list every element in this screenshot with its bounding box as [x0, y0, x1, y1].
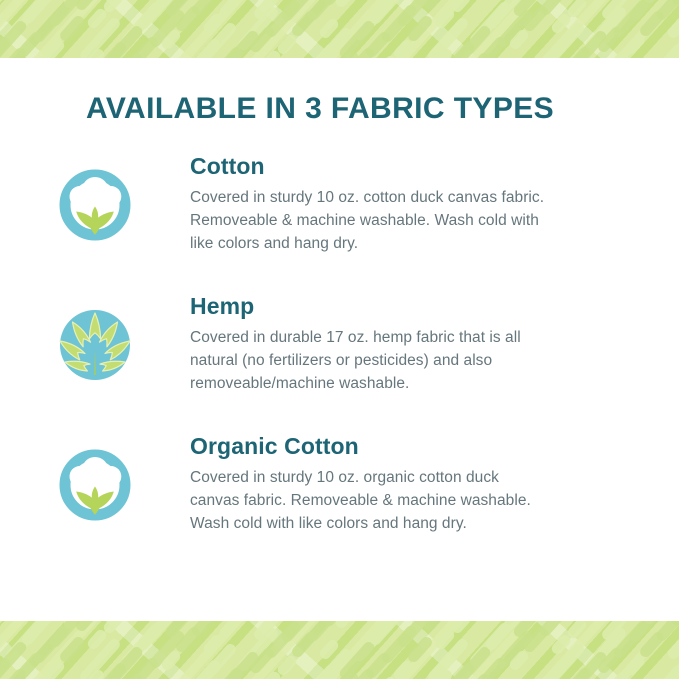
dash-stripe [0, 0, 8, 9]
list-item: Organic Cotton Covered in sturdy 10 oz. … [0, 434, 679, 574]
top-decorative-band [0, 0, 679, 58]
bottom-decorative-band [0, 621, 679, 679]
page-title: AVAILABLE IN 3 FABRIC TYPES [86, 92, 554, 126]
dash-stripe [276, 33, 299, 57]
cotton-boll-icon [49, 159, 141, 251]
dash-overlay [0, 0, 679, 58]
fabric-description: Covered in sturdy 10 oz. organic cotton … [190, 467, 550, 535]
list-item: Hemp Covered in durable 17 oz. hemp fabr… [0, 294, 679, 434]
text-column: Organic Cotton Covered in sturdy 10 oz. … [190, 434, 679, 536]
main-content: AVAILABLE IN 3 FABRIC TYPES Cotton Cove [0, 64, 679, 615]
fabric-types-list: Cotton Covered in sturdy 10 oz. cotton d… [0, 154, 679, 574]
dash-stripe [654, 0, 679, 22]
icon-column [0, 434, 190, 531]
dash-stripe [276, 654, 299, 678]
dash-stripe [654, 621, 679, 643]
dash-stripe [624, 654, 647, 678]
icon-column [0, 154, 190, 251]
list-item: Cotton Covered in sturdy 10 oz. cotton d… [0, 154, 679, 294]
dash-stripe [624, 33, 647, 57]
text-column: Hemp Covered in durable 17 oz. hemp fabr… [190, 294, 679, 396]
hemp-leaf-icon [49, 299, 141, 391]
fabric-name: Cotton [190, 154, 617, 179]
dash-stripe [0, 621, 8, 630]
fabric-description: Covered in sturdy 10 oz. cotton duck can… [190, 187, 550, 255]
text-column: Cotton Covered in sturdy 10 oz. cotton d… [190, 154, 679, 256]
dash-stripe [666, 638, 679, 662]
dash-stripe [334, 621, 357, 630]
dash-stripe [334, 0, 357, 9]
fabric-name: Hemp [190, 294, 617, 319]
fabric-description: Covered in durable 17 oz. hemp fabric th… [190, 327, 550, 395]
cotton-boll-icon [49, 439, 141, 531]
infographic-page: AVAILABLE IN 3 FABRIC TYPES Cotton Cove [0, 0, 679, 679]
dash-stripe [666, 17, 679, 41]
fabric-name: Organic Cotton [190, 434, 617, 459]
dash-overlay [0, 621, 679, 679]
icon-column [0, 294, 190, 391]
